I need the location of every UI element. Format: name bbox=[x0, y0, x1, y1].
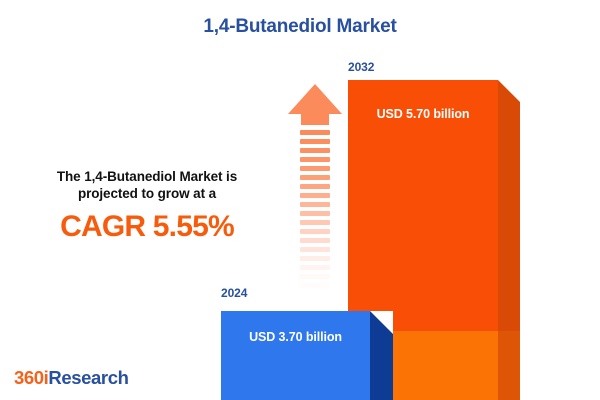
bar-2024: 2024 USD 3.70 billion bbox=[221, 286, 401, 400]
infographic-canvas: 1,4-Butanediol Market The 1,4-Butanediol… bbox=[0, 0, 600, 400]
cagr-value: CAGR 5.55% bbox=[22, 210, 272, 244]
arrow-segment bbox=[300, 247, 330, 252]
statement-block: The 1,4-Butanediol Market is projected t… bbox=[22, 168, 272, 244]
bar-2032-year-label: 2032 bbox=[348, 60, 374, 74]
brand-logo: 360iResearch bbox=[14, 367, 129, 389]
brand-logo-word: Research bbox=[48, 367, 128, 388]
arrow-segment bbox=[300, 238, 330, 243]
arrow-segment bbox=[300, 139, 330, 144]
arrow-segment bbox=[300, 265, 330, 270]
arrow-segment-stack bbox=[300, 130, 330, 292]
brand-logo-mark: 360i bbox=[14, 367, 48, 388]
growth-arrow-icon bbox=[288, 84, 342, 292]
arrow-segment bbox=[300, 166, 330, 171]
bar-2032-side-lower-face bbox=[498, 331, 520, 400]
arrow-neck bbox=[301, 113, 329, 125]
arrow-segment bbox=[300, 220, 330, 225]
arrow-head-icon bbox=[288, 84, 342, 114]
arrow-segment bbox=[300, 202, 330, 207]
arrow-segment bbox=[300, 229, 330, 234]
statement-line-2: projected to grow at a bbox=[22, 185, 272, 202]
arrow-segment bbox=[300, 193, 330, 198]
arrow-segment bbox=[300, 130, 330, 135]
arrow-segment bbox=[300, 148, 330, 153]
arrow-segment bbox=[300, 157, 330, 162]
bar-2024-value-label: USD 3.70 billion bbox=[221, 311, 370, 363]
arrow-segment bbox=[300, 256, 330, 261]
bar-2024-year-label: 2024 bbox=[221, 286, 247, 300]
arrow-segment bbox=[300, 274, 330, 279]
arrow-segment bbox=[300, 175, 330, 180]
arrow-segment bbox=[300, 184, 330, 189]
page-title: 1,4-Butanediol Market bbox=[0, 16, 600, 38]
arrow-segment bbox=[300, 211, 330, 216]
bar-2032-value-label: USD 5.70 billion bbox=[348, 80, 498, 148]
statement-line-1: The 1,4-Butanediol Market is bbox=[22, 168, 272, 185]
